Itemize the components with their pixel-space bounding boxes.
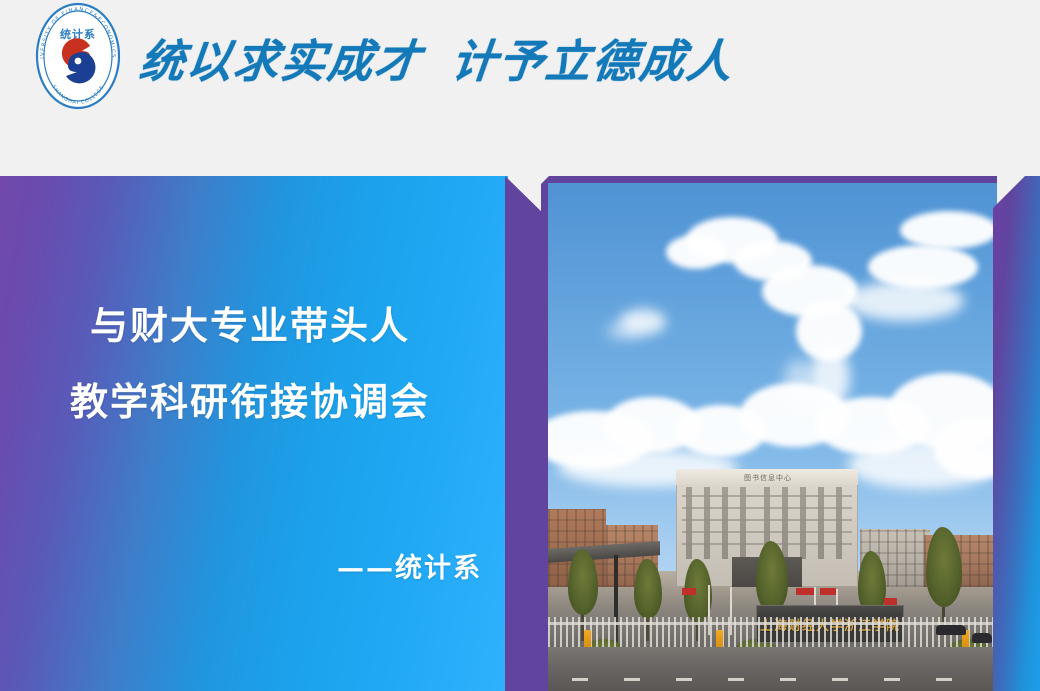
traffic-bollard <box>716 630 723 647</box>
slide-title: 与财大专业带头人 教学科研衔接协调会 <box>0 288 500 440</box>
cloud <box>848 441 997 489</box>
red-banner-sign <box>682 588 696 595</box>
lane-dash <box>624 678 640 681</box>
cloud <box>606 323 642 339</box>
building-name-sign: 图书信息中心 <box>732 472 804 483</box>
lane-dash <box>572 678 588 681</box>
lane-dash <box>884 678 900 681</box>
window-column <box>800 487 806 559</box>
cloud <box>784 359 814 411</box>
gate-fence-barrier <box>548 617 997 647</box>
window-column <box>704 487 710 559</box>
university-logo-seal: UNIVERSITY OF FINANCE&ECONOMICS ZJ SHANG… <box>28 2 128 110</box>
slide-title-line-2: 教学科研衔接协调会 <box>0 364 500 440</box>
window-column <box>686 487 692 559</box>
lane-dash <box>936 678 952 681</box>
window-column <box>836 487 842 559</box>
lane-dash <box>780 678 796 681</box>
cloud <box>900 211 997 249</box>
slogan-line-2: 计予立德成人 <box>449 25 738 90</box>
campus-photo-frame: 图书信息中心 <box>541 176 997 691</box>
slide-attribution: ——统计系 <box>0 546 500 585</box>
red-banner-sign <box>796 588 814 595</box>
slogan-line-1: 统以求实成才 <box>137 25 426 90</box>
lane-dash <box>728 678 744 681</box>
red-banner-sign <box>884 598 897 605</box>
lane-dash <box>676 678 692 681</box>
window-column <box>818 487 824 559</box>
slide-body: 与财大专业带头人 教学科研衔接协调会 ——统计系 <box>0 176 1040 691</box>
motorbike <box>972 633 992 643</box>
campus-photo: 图书信息中心 <box>548 183 997 691</box>
university-slogan: 统以求实成才 计予立德成人 <box>140 10 660 104</box>
road <box>548 647 997 691</box>
window-column <box>782 487 788 559</box>
slide-header: UNIVERSITY OF FINANCE&ECONOMICS ZJ SHANG… <box>0 0 1040 170</box>
parked-car <box>936 625 966 635</box>
title-gradient-panel: 与财大专业带头人 教学科研衔接协调会 ——统计系 <box>0 176 508 691</box>
presentation-slide: UNIVERSITY OF FINANCE&ECONOMICS ZJ SHANG… <box>0 0 1040 691</box>
red-banner-sign <box>820 588 836 595</box>
cloud <box>844 281 964 321</box>
traffic-bollard <box>584 630 591 647</box>
cloud <box>666 235 726 269</box>
right-accent-bar <box>993 176 1040 691</box>
slide-title-line-1: 与财大专业带头人 <box>0 288 500 364</box>
lane-dash <box>832 678 848 681</box>
window-column <box>740 487 746 559</box>
window-column <box>722 487 728 559</box>
